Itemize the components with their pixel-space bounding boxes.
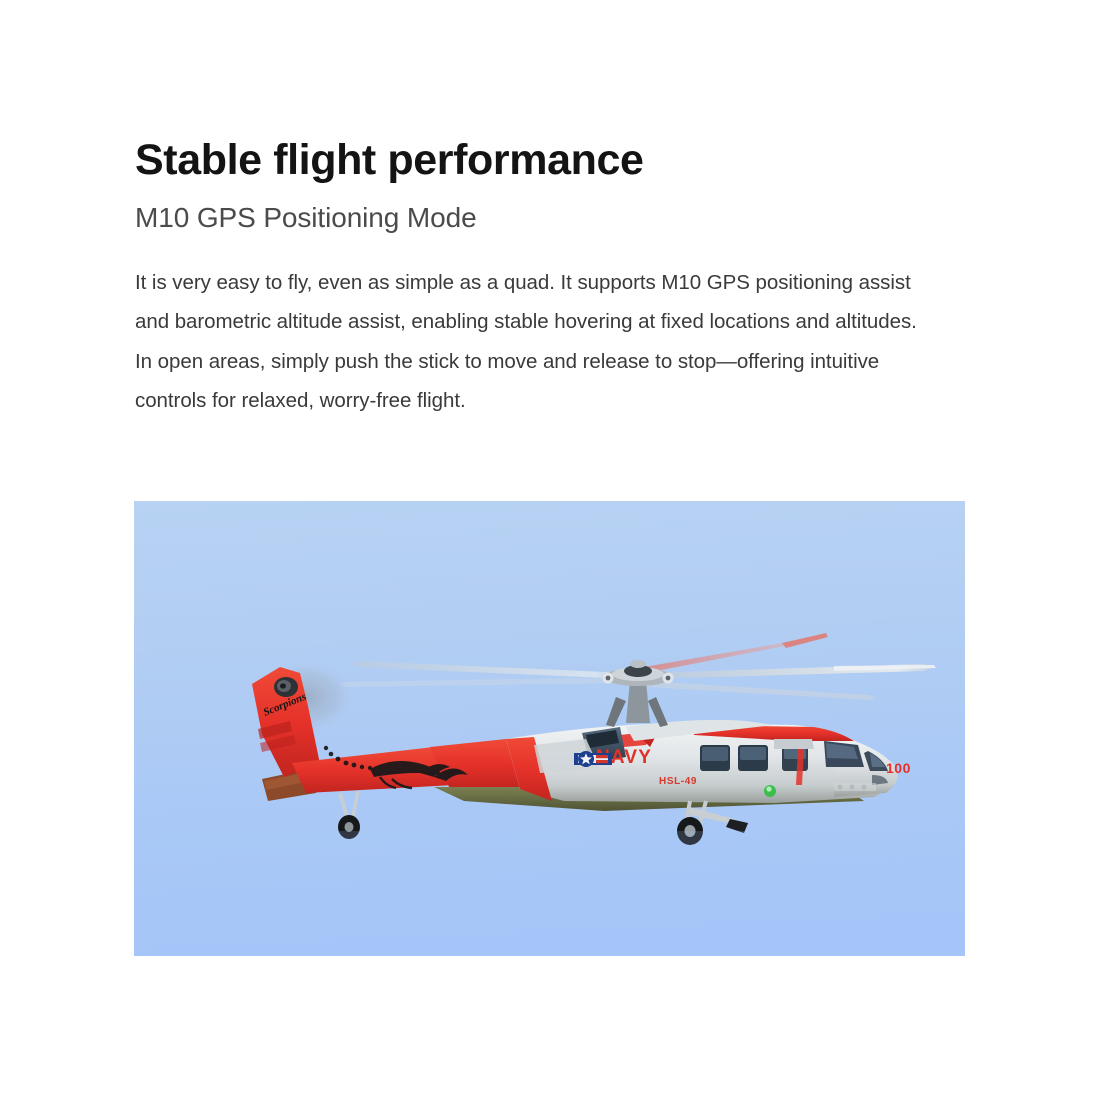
text-content-block: Stable flight performance M10 GPS Positi… (135, 0, 965, 421)
product-photo: Scorpions (134, 501, 965, 956)
page-subtitle: M10 GPS Positioning Mode (135, 184, 965, 235)
helicopter-illustration: Scorpions (134, 501, 965, 956)
body-paragraph: It is very easy to fly, even as simple a… (135, 235, 935, 421)
usaf-roundel-icon (574, 751, 612, 767)
page-title: Stable flight performance (135, 0, 965, 184)
nose-number-marking: 100 (886, 760, 911, 776)
page-root: Stable flight performance M10 GPS Positi… (0, 0, 1100, 1100)
tail-rotor-hub (274, 677, 298, 697)
squadron-marking: HSL-49 (659, 776, 697, 787)
